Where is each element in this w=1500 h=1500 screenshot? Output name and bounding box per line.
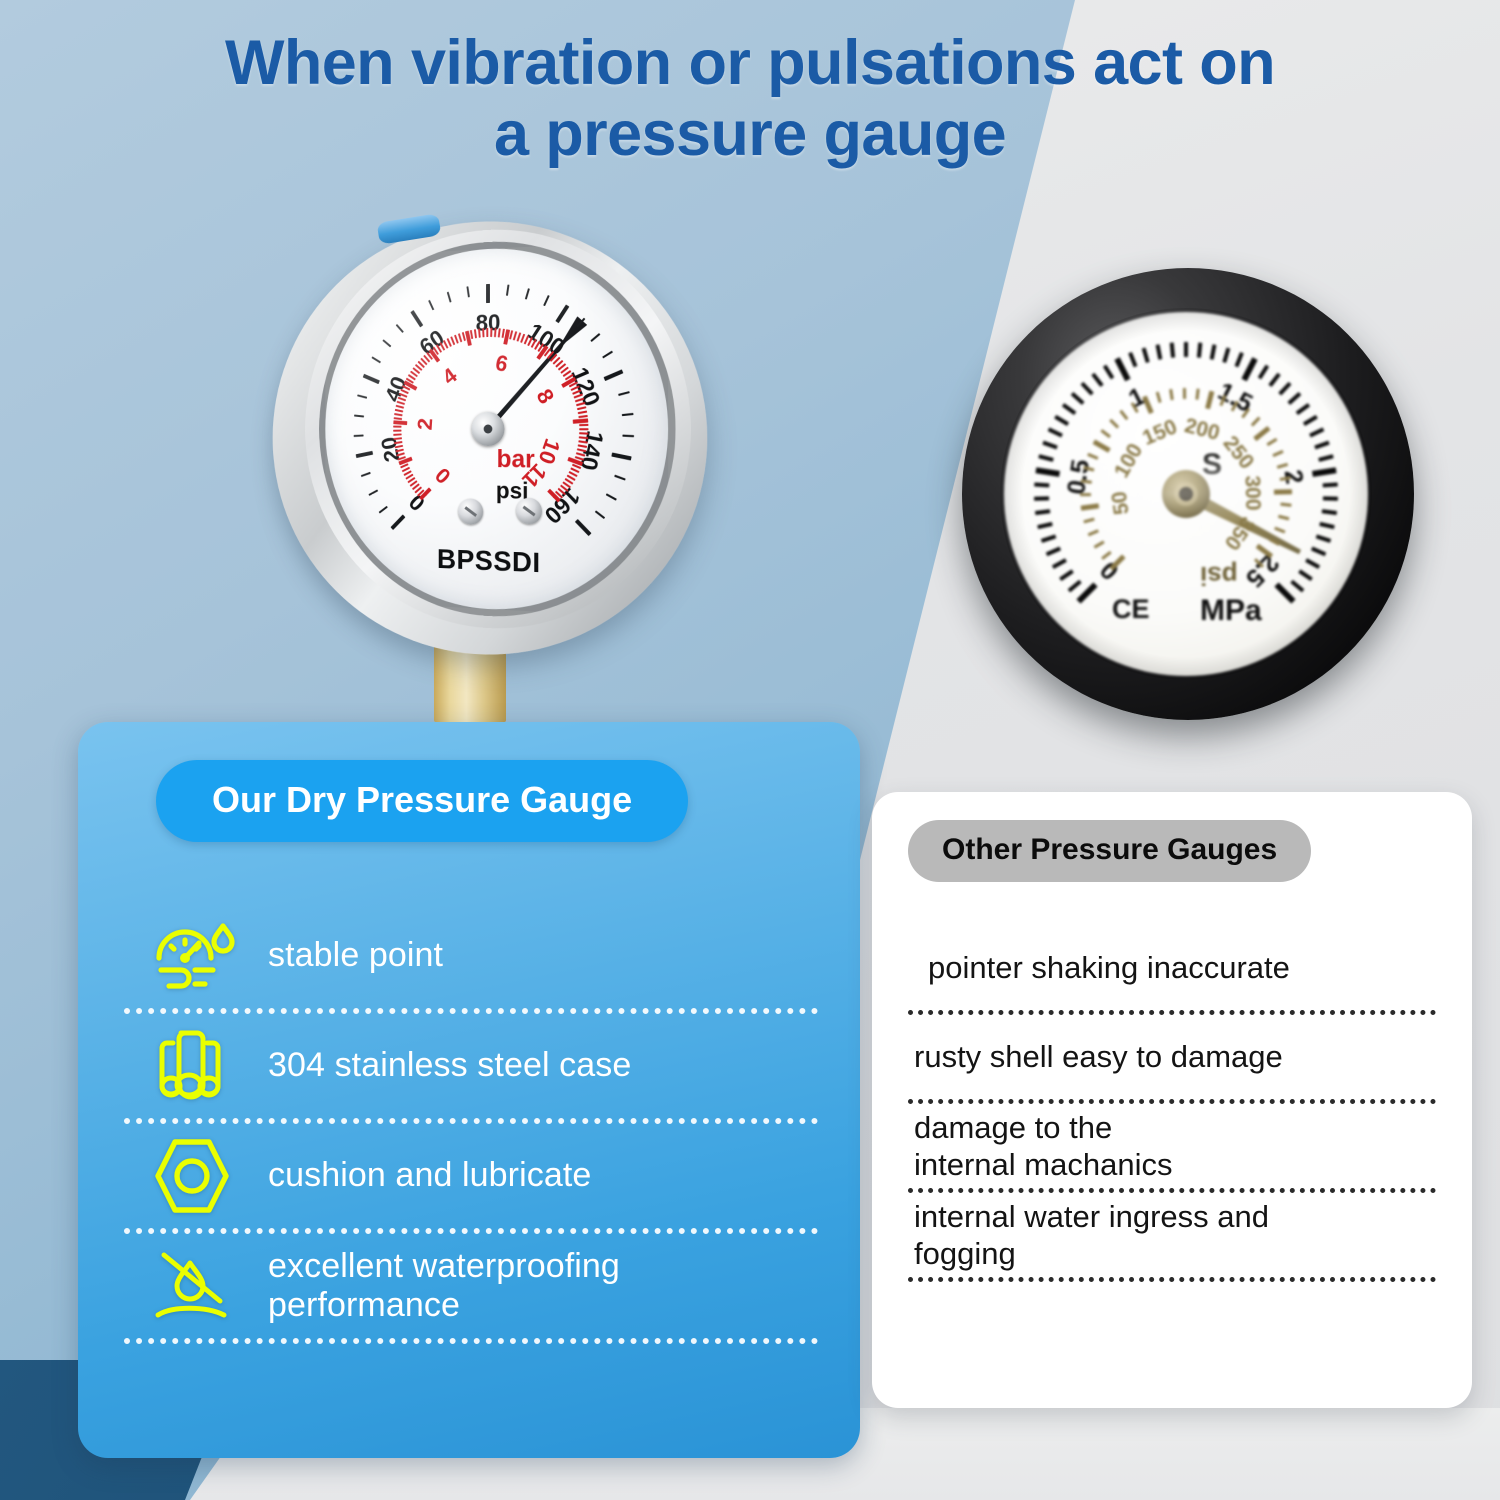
dial-tick (525, 288, 530, 299)
issue-row-pointer-shaking: pointer shaking inaccurate (902, 926, 1442, 1010)
other-gauges-badge: Other Pressure Gauges (908, 820, 1311, 882)
issue-label: rusty shell easy to damage (914, 1038, 1283, 1075)
dial-tick (579, 432, 588, 435)
waterproof-icon (140, 1247, 244, 1325)
dial-tick (482, 328, 485, 337)
issue-label: pointer shaking inaccurate (914, 949, 1290, 986)
dial-tick (394, 413, 402, 416)
dial-brand-mark: BPSSDI (437, 543, 541, 579)
dial-tick (470, 330, 474, 339)
issue-label: damage to the internal machanics (914, 1109, 1172, 1183)
other-pressure-gauge-image: S psi CE MPa 00.511.522.5501001502002503… (948, 258, 1428, 758)
dial-tick (579, 424, 588, 427)
dial-tick (604, 369, 624, 381)
dial-tick (555, 305, 569, 324)
dial-tick (602, 351, 613, 359)
dial-tick (466, 286, 470, 297)
dial-tick (363, 374, 380, 384)
dial-tick (379, 505, 388, 513)
feature-row-stable-point: stable point (114, 904, 824, 1008)
gauge-droplet-icon (140, 918, 244, 994)
issue-label: internal water ingress and fogging (914, 1198, 1269, 1272)
dial-tick (618, 391, 630, 396)
dial-tick (622, 435, 634, 438)
dial-number: 2 (413, 418, 438, 432)
dial-screw-left (458, 498, 483, 524)
issue-row-water-ingress: internal water ingress and fogging (902, 1193, 1442, 1277)
feature-label: 304 stainless steel case (244, 1046, 631, 1085)
dial-tick (614, 475, 626, 481)
dial-tick (410, 310, 423, 327)
dial-tick (486, 284, 490, 303)
hex-nut-icon (140, 1136, 244, 1216)
dial-tick (391, 514, 406, 530)
dial-tick (579, 428, 588, 430)
dial-tick (575, 519, 592, 536)
dial-tick (357, 394, 367, 399)
dial-tick (595, 510, 606, 519)
dial-tick (354, 434, 364, 437)
gauge-dial-face: bar psi BPSSDI 0204060801001201401600246… (325, 239, 668, 618)
dial-tick (622, 413, 634, 417)
steel-tubes-icon (140, 1025, 244, 1107)
dial-tick (447, 292, 452, 303)
our-gauge-panel: Our Dry Pressure Gauge stable point (78, 722, 860, 1458)
our-gauge-badge: Our Dry Pressure Gauge (156, 760, 688, 842)
feature-row-stainless-case: 304 stainless steel case (114, 1014, 824, 1118)
gauge-black-inner-shadow (1000, 308, 1372, 680)
issue-row-rusty-shell: rusty shell easy to damage (902, 1015, 1442, 1099)
feature-row-waterproofing: excellent waterproofing performance (114, 1234, 824, 1338)
dial-tick (354, 414, 364, 417)
issue-row-internal-damage: damage to the internal machanics (902, 1104, 1442, 1188)
dial-tick (506, 285, 510, 296)
dial-tick (395, 409, 403, 413)
dial-tick (486, 328, 488, 337)
dial-tick (543, 295, 550, 306)
dial-tick (606, 493, 617, 501)
dial-tick (590, 333, 600, 342)
feature-label: cushion and lubricate (244, 1156, 591, 1195)
dial-tick (611, 452, 631, 460)
page-title-line-1: When vibration or pulsations act on (0, 28, 1500, 99)
dial-tick (356, 451, 373, 458)
other-gauges-panel: Other Pressure Gauges pointer shaking in… (872, 792, 1472, 1408)
divider (124, 1338, 818, 1344)
dial-number: 6 (493, 350, 510, 378)
dial-tick (498, 328, 501, 337)
feature-row-cushion-lubricate: cushion and lubricate (114, 1124, 824, 1228)
dial-tick (396, 324, 404, 333)
feature-label: excellent waterproofing performance (244, 1247, 620, 1326)
dial-number: 0 (431, 462, 456, 489)
other-gauges-issue-list: pointer shaking inaccurate rusty shell e… (902, 926, 1442, 1282)
dial-tick (393, 429, 401, 431)
feature-label: stable point (244, 936, 443, 975)
page-title: When vibration or pulsations act on a pr… (0, 28, 1500, 170)
divider (908, 1277, 1436, 1282)
page-title-line-2: a pressure gauge (0, 99, 1500, 170)
dial-tick (428, 300, 434, 311)
our-gauge-feature-list: stable point 304 stainless steel case (114, 904, 824, 1344)
dial-tick (578, 411, 587, 415)
dial-tick (371, 356, 381, 363)
dial-tick (368, 489, 378, 496)
dial-number: 8 (530, 384, 559, 408)
dial-screw-right (516, 498, 542, 525)
dial-tick (361, 471, 371, 477)
dial-tick (393, 425, 401, 427)
dial-tick (490, 328, 492, 337)
dial-number: 4 (438, 363, 462, 391)
dial-tick (382, 339, 391, 347)
gauge-needle-hub (472, 412, 505, 446)
dry-pressure-gauge-image: bar psi BPSSDI 0204060801001201401600246… (238, 212, 718, 712)
